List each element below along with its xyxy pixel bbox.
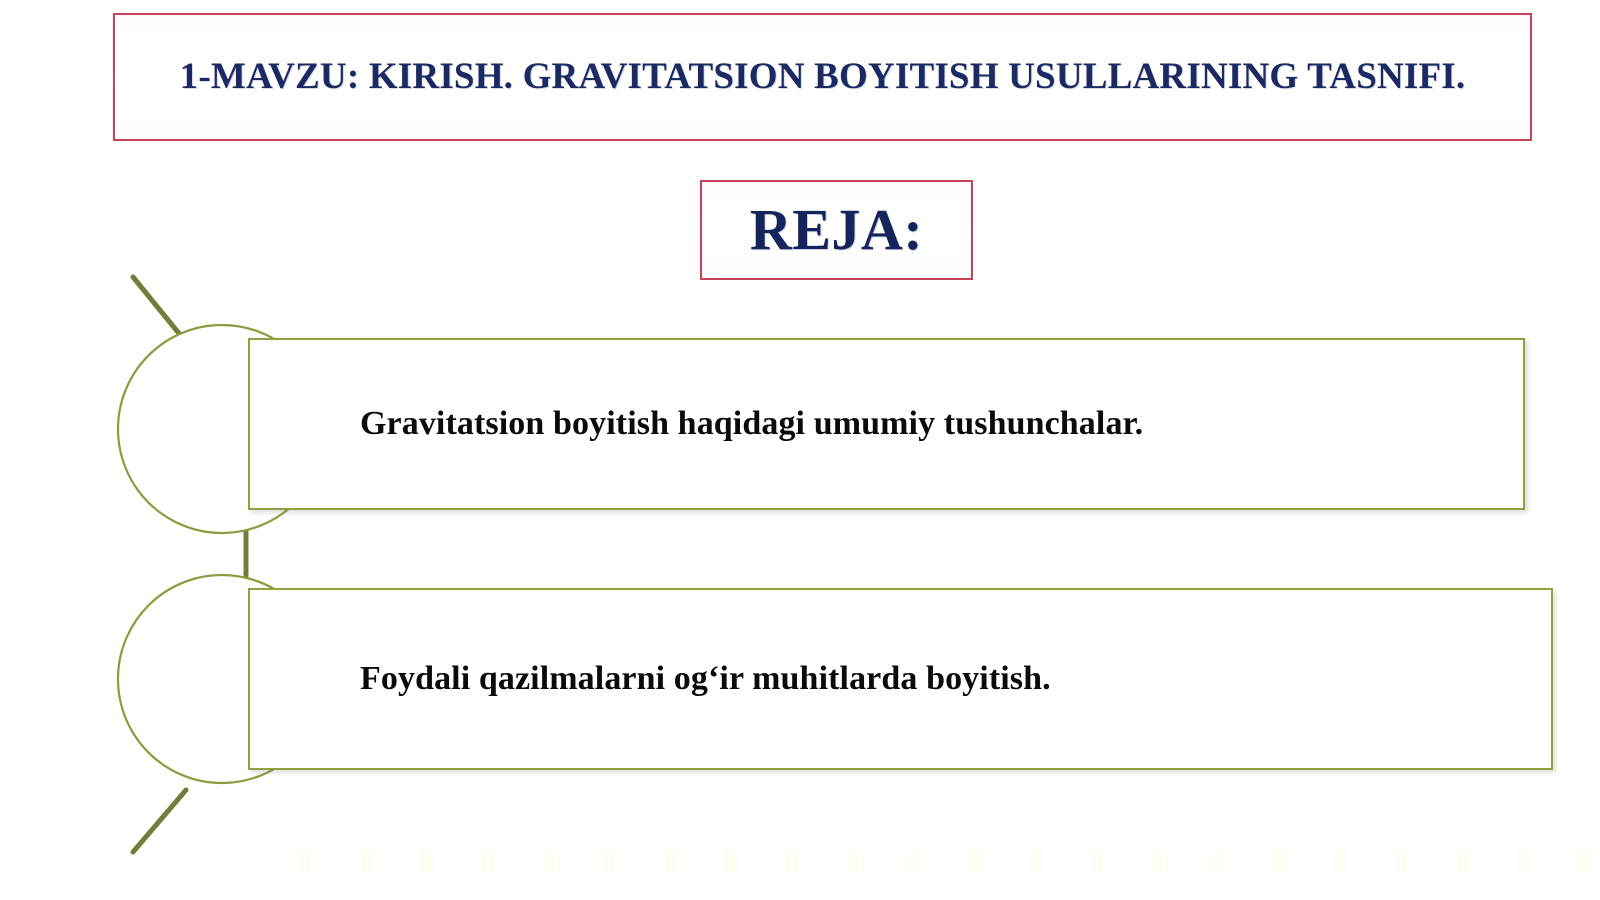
bottom-mark <box>1457 850 1468 872</box>
accent-line-top <box>133 277 186 342</box>
agenda-heading-box: REJA: <box>700 180 973 280</box>
bottom-mark <box>726 850 737 872</box>
bottom-mark <box>787 850 798 872</box>
agenda-item-2[interactable]: Foydali qazilmalarni ogʻir muhitlarda bo… <box>248 588 1553 770</box>
bottom-mark <box>361 850 372 872</box>
bottom-mark <box>1579 850 1590 872</box>
bottom-mark <box>665 850 676 872</box>
bottom-mark <box>300 850 311 872</box>
agenda-item-2-label: Foydali qazilmalarni ogʻir muhitlarda bo… <box>360 590 1527 768</box>
bottom-mark <box>1274 850 1285 872</box>
bottom-mark <box>1396 850 1407 872</box>
bottom-mark <box>483 850 494 872</box>
accent-line-bottom <box>133 790 186 852</box>
bottom-mark <box>970 850 981 872</box>
bottom-mark <box>1031 850 1042 872</box>
bottom-mark <box>1518 850 1529 872</box>
bottom-mark <box>1092 850 1103 872</box>
title-box: 1-MAVZU: KIRISH. GRAVITATSION BOYITISH U… <box>113 13 1532 141</box>
agenda-item-1[interactable]: Gravitatsion boyitish haqidagi umumiy tu… <box>248 338 1525 510</box>
bottom-mark <box>544 850 555 872</box>
agenda-item-1-label: Gravitatsion boyitish haqidagi umumiy tu… <box>360 340 1499 508</box>
agenda-heading-label: REJA: <box>750 201 923 259</box>
slide-canvas: 1-MAVZU: KIRISH. GRAVITATSION BOYITISH U… <box>0 0 1600 900</box>
bottom-mark <box>1335 850 1346 872</box>
bottom-mark <box>422 850 433 872</box>
bottom-mark <box>909 850 920 872</box>
bottom-mark <box>1213 850 1224 872</box>
bottom-mark <box>604 850 615 872</box>
bottom-mark <box>848 850 859 872</box>
bottom-decoration-strip <box>300 848 1590 874</box>
bottom-mark <box>1152 850 1163 872</box>
page-title: 1-MAVZU: KIRISH. GRAVITATSION BOYITISH U… <box>115 15 1530 139</box>
